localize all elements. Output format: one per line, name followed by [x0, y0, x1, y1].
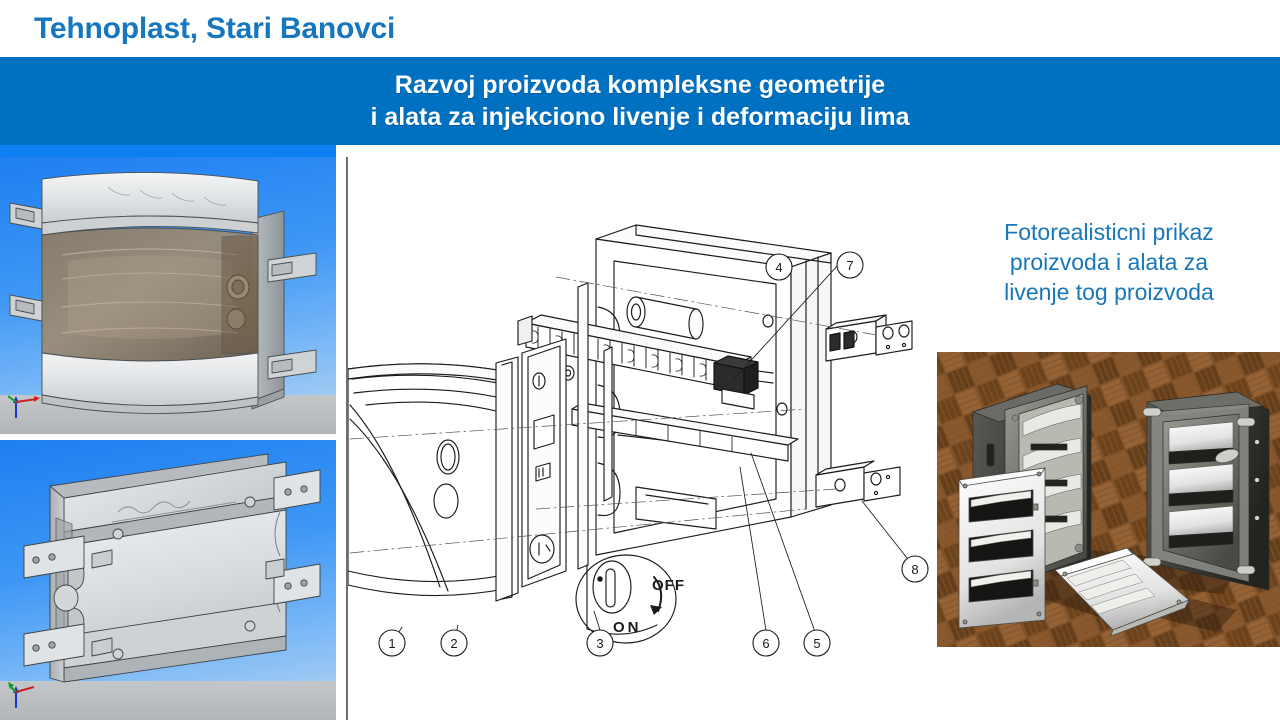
banner-title-line-1: Razvoj proizvoda kompleksne geometrije — [395, 69, 885, 102]
callout-5-label: 5 — [813, 636, 820, 651]
callout-6-label: 6 — [762, 636, 769, 651]
exploded-technical-drawing: OFF ON 1 2 3 4 5 6 7 8 — [336, 157, 936, 720]
cad-housing-geometry — [0, 440, 336, 720]
caption-line-1: Fotorealisticni prikaz — [944, 218, 1274, 248]
banner-accent-strip — [0, 145, 336, 157]
slide-root: Tehnoplast, Stari Banovci Razvoj proizvo… — [0, 0, 1280, 720]
coordinate-triad-icon — [8, 392, 42, 426]
callout-8-label: 8 — [911, 562, 918, 577]
caption-line-3: livenje tog proizvoda — [944, 278, 1274, 308]
photorealistic-render — [937, 352, 1280, 647]
callout-2-label: 2 — [450, 636, 457, 651]
cad-assembly-geometry — [0, 157, 336, 434]
cad-render-housing — [0, 440, 336, 720]
callout-1-label: 1 — [388, 636, 395, 651]
banner-title-line-2: i alata za injekciono livenje i deformac… — [370, 101, 909, 134]
callout-7-label: 7 — [846, 258, 853, 273]
company-title: Tehnoplast, Stari Banovci — [34, 12, 395, 46]
photorealistic-caption: Fotorealisticni prikaz proizvoda i alata… — [944, 218, 1274, 308]
photorealistic-render-geometry — [937, 352, 1280, 647]
callout-4-label: 4 — [775, 260, 782, 275]
callout-balloons-layer: 1 2 3 4 5 6 7 8 — [336, 157, 936, 720]
title-banner: Razvoj proizvoda kompleksne geometrije i… — [0, 57, 1280, 145]
cad-render-assembly — [0, 157, 336, 434]
callout-3-label: 3 — [596, 636, 603, 651]
coordinate-triad-icon — [8, 678, 42, 712]
caption-line-2: proizvoda i alata za — [944, 248, 1274, 278]
banner-text-block: Razvoj proizvoda kompleksne geometrije i… — [0, 57, 1280, 145]
